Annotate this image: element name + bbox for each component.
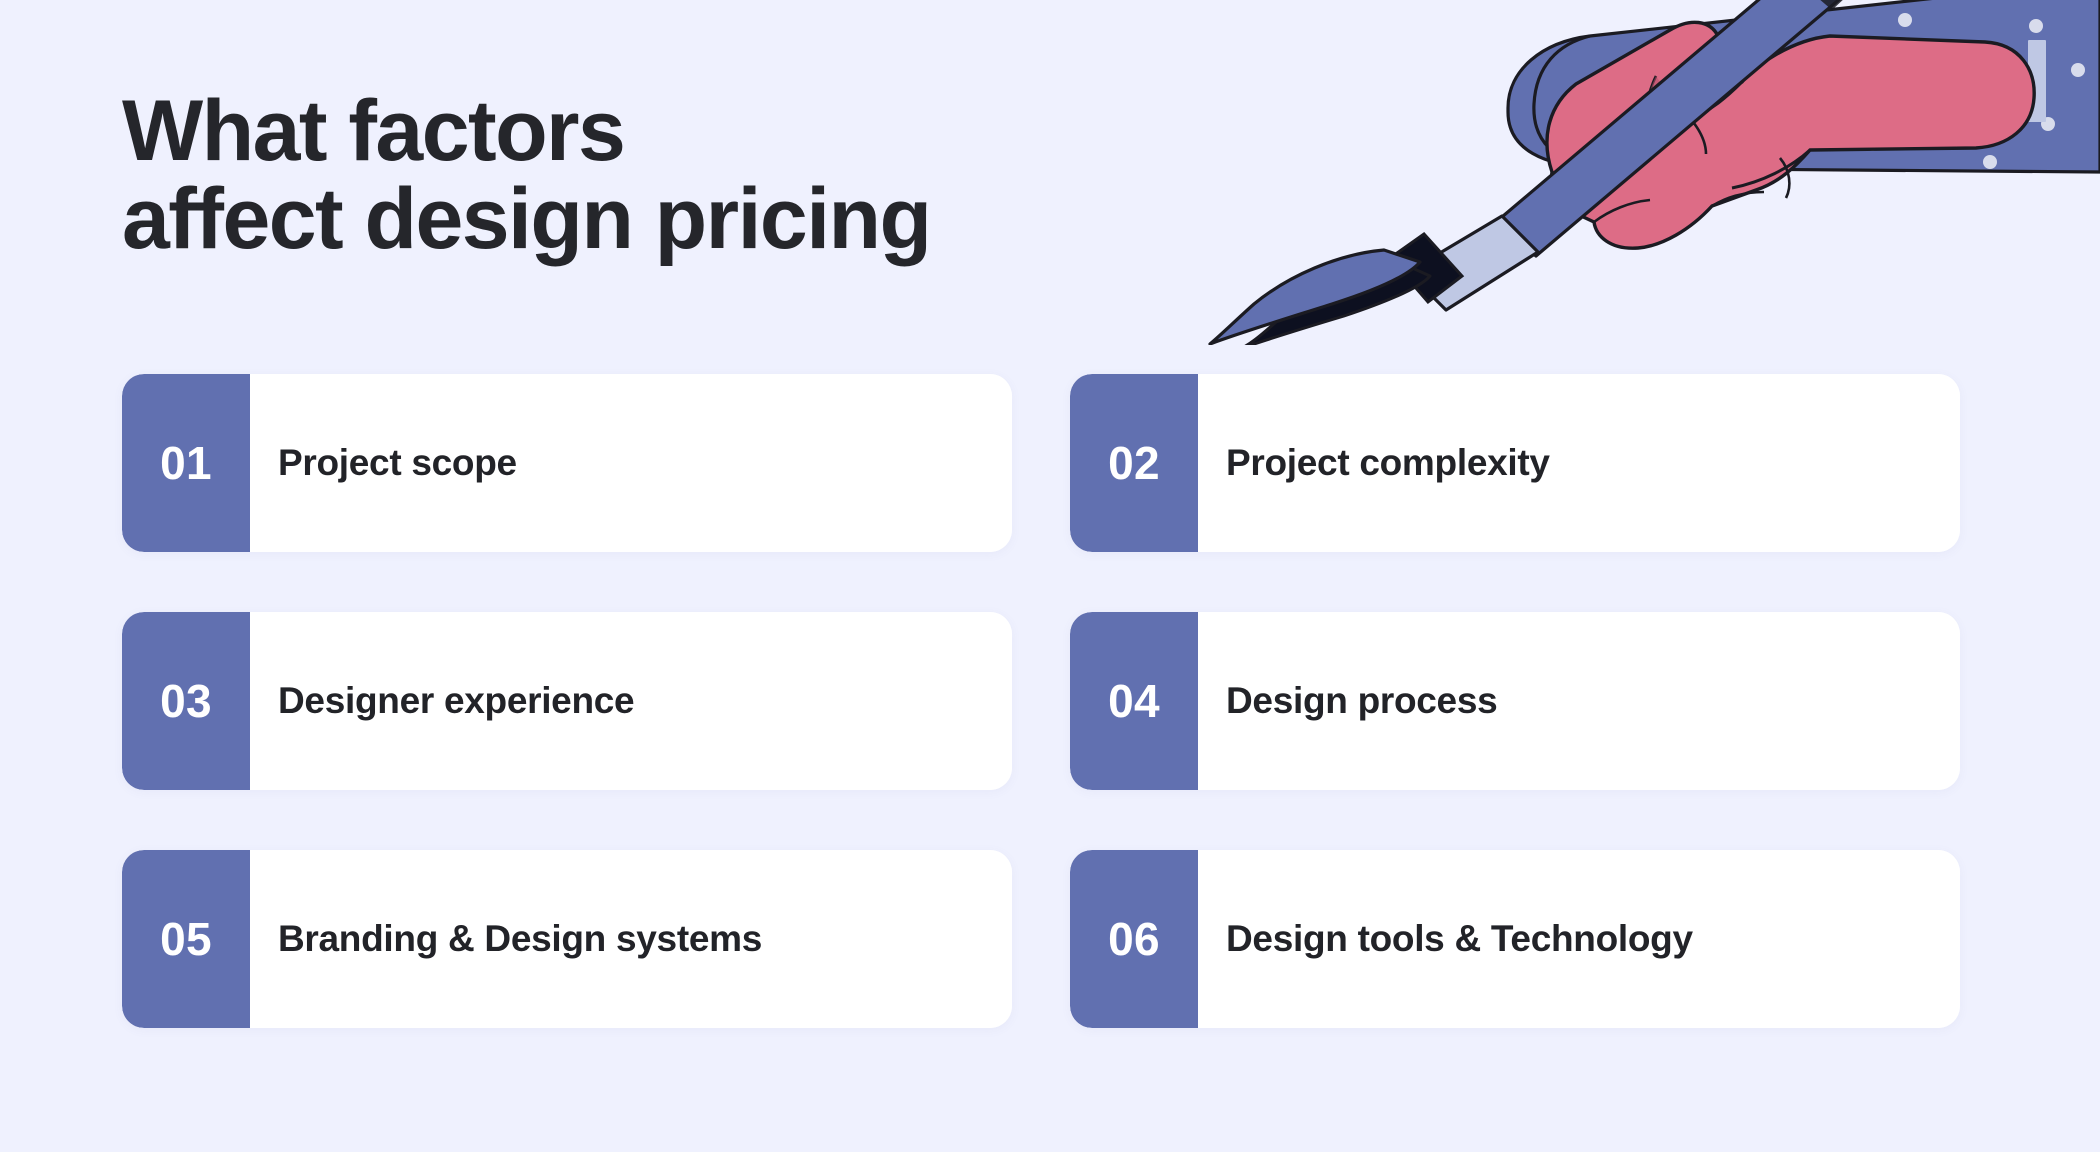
collapse-arrow-to-bar-icon — [1928, 40, 2046, 136]
factor-card-label: Design process — [1226, 679, 1497, 723]
factor-card[interactable]: 04 Design process — [1070, 612, 1960, 790]
factor-card-label: Project scope — [278, 441, 517, 485]
factor-card[interactable]: 02 Project complexity — [1070, 374, 1960, 552]
factor-card-number: 03 — [160, 678, 212, 724]
hand-holding-paintbrush-illustration — [1090, 0, 2100, 345]
factor-card-label: Project complexity — [1226, 441, 1550, 485]
slide-root: What factors affect design pricing 01 Pr… — [0, 0, 2100, 1152]
factor-card-badge: 01 — [122, 374, 250, 552]
factor-card-badge: 04 — [1070, 612, 1198, 790]
factor-card-body: Project scope — [250, 374, 1012, 552]
factor-card-body: Design process — [1198, 612, 1960, 790]
page-title-line-1: What factors — [122, 88, 1122, 176]
factor-card-number: 06 — [1108, 916, 1160, 962]
paintbrush-group — [1210, 0, 1860, 345]
factor-card-label: Design tools & Technology — [1226, 917, 1693, 961]
factor-card-label: Branding & Design systems — [278, 917, 762, 961]
factor-card-number: 05 — [160, 916, 212, 962]
factor-card[interactable]: 01 Project scope — [122, 374, 1012, 552]
factor-card-body: Project complexity — [1198, 374, 1960, 552]
factor-card-badge: 06 — [1070, 850, 1198, 1028]
factor-card[interactable]: 05 Branding & Design systems — [122, 850, 1012, 1028]
factor-card[interactable]: 06 Design tools & Technology — [1070, 850, 1960, 1028]
factor-card-badge: 05 — [122, 850, 250, 1028]
factor-card-number: 02 — [1108, 440, 1160, 486]
factor-card-badge: 03 — [122, 612, 250, 790]
factor-card-grid: 01 Project scope 02 Project complexity 0… — [122, 374, 1960, 1028]
factor-card-body: Design tools & Technology — [1198, 850, 1960, 1028]
page-title: What factors affect design pricing — [122, 88, 1122, 263]
polka-dots — [1610, 13, 2085, 191]
factor-card-badge: 02 — [1070, 374, 1198, 552]
page-title-line-2: affect design pricing — [122, 176, 1122, 264]
factor-card-body: Designer experience — [250, 612, 1012, 790]
factor-card[interactable]: 03 Designer experience — [122, 612, 1012, 790]
factor-card-body: Branding & Design systems — [250, 850, 1012, 1028]
hand-group — [1547, 22, 2034, 248]
factor-card-number: 04 — [1108, 678, 1160, 724]
factor-card-label: Designer experience — [278, 679, 634, 723]
sleeve-group — [1508, 0, 2100, 191]
factor-card-number: 01 — [160, 440, 212, 486]
